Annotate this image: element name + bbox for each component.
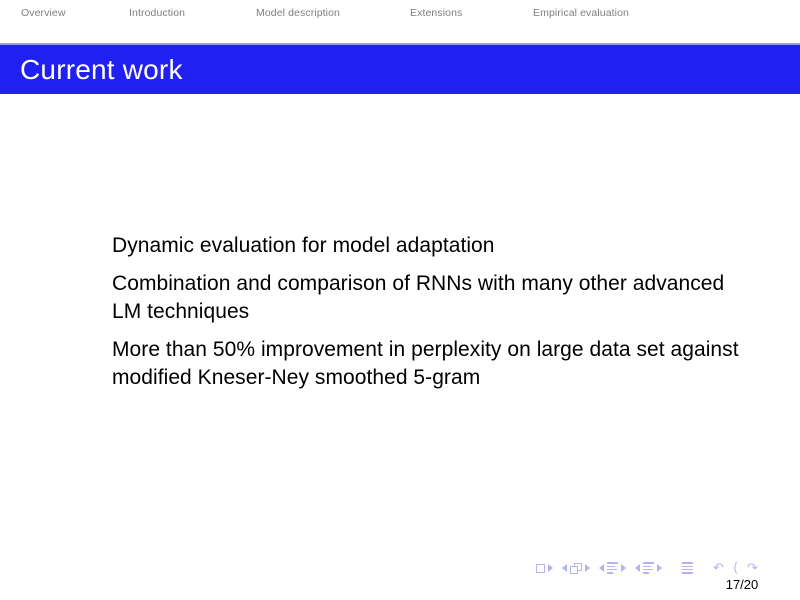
bullet-item: Combination and comparison of RNNs with … <box>112 270 757 326</box>
nav-item-overview[interactable]: Overview <box>21 8 129 19</box>
forward-icon[interactable]: ↷ <box>747 562 758 575</box>
document-icon[interactable] <box>682 562 693 574</box>
section-navigation-bar: Overview Introduction Model description … <box>0 0 800 44</box>
slide-forward-icon[interactable] <box>548 564 553 572</box>
frame-back-icon[interactable] <box>562 564 567 572</box>
nav-item-extensions[interactable]: Extensions <box>410 8 533 19</box>
page-title: Current work <box>0 56 183 84</box>
section-forward-icon[interactable] <box>657 564 662 572</box>
section-icon[interactable] <box>643 562 654 574</box>
slide-nav-group <box>536 564 553 573</box>
beamer-navigation-symbols: ↶ ⟨ ↷ <box>536 560 786 576</box>
slide: Overview Introduction Model description … <box>0 0 800 600</box>
subsection-back-icon[interactable] <box>599 564 604 572</box>
nav-item-introduction[interactable]: Introduction <box>129 8 256 19</box>
bullet-item: More than 50% improvement in perplexity … <box>112 336 757 392</box>
slide-body: Dynamic evaluation for model adaptation … <box>112 232 757 392</box>
nav-item-model-description[interactable]: Model description <box>256 8 410 19</box>
slide-begin-icon[interactable] <box>536 564 545 573</box>
search-icon[interactable]: ⟨ <box>733 562 738 575</box>
frame-forward-icon[interactable] <box>585 564 590 572</box>
subsection-nav-group <box>599 562 626 574</box>
section-nav-group <box>635 562 662 574</box>
frame-nav-group <box>562 563 590 574</box>
subsection-icon[interactable] <box>607 562 618 574</box>
back-icon[interactable]: ↶ <box>713 562 724 575</box>
nav-item-empirical-evaluation[interactable]: Empirical evaluation <box>533 8 629 19</box>
slide-title-bar: Current work <box>0 45 800 94</box>
page-number: 17/20 <box>700 578 784 591</box>
document-nav-group <box>682 562 693 574</box>
section-back-icon[interactable] <box>635 564 640 572</box>
bullet-item: Dynamic evaluation for model adaptation <box>112 232 757 260</box>
subsection-forward-icon[interactable] <box>621 564 626 572</box>
frame-icon[interactable] <box>570 563 582 574</box>
history-nav-group: ↶ ⟨ ↷ <box>713 562 758 575</box>
